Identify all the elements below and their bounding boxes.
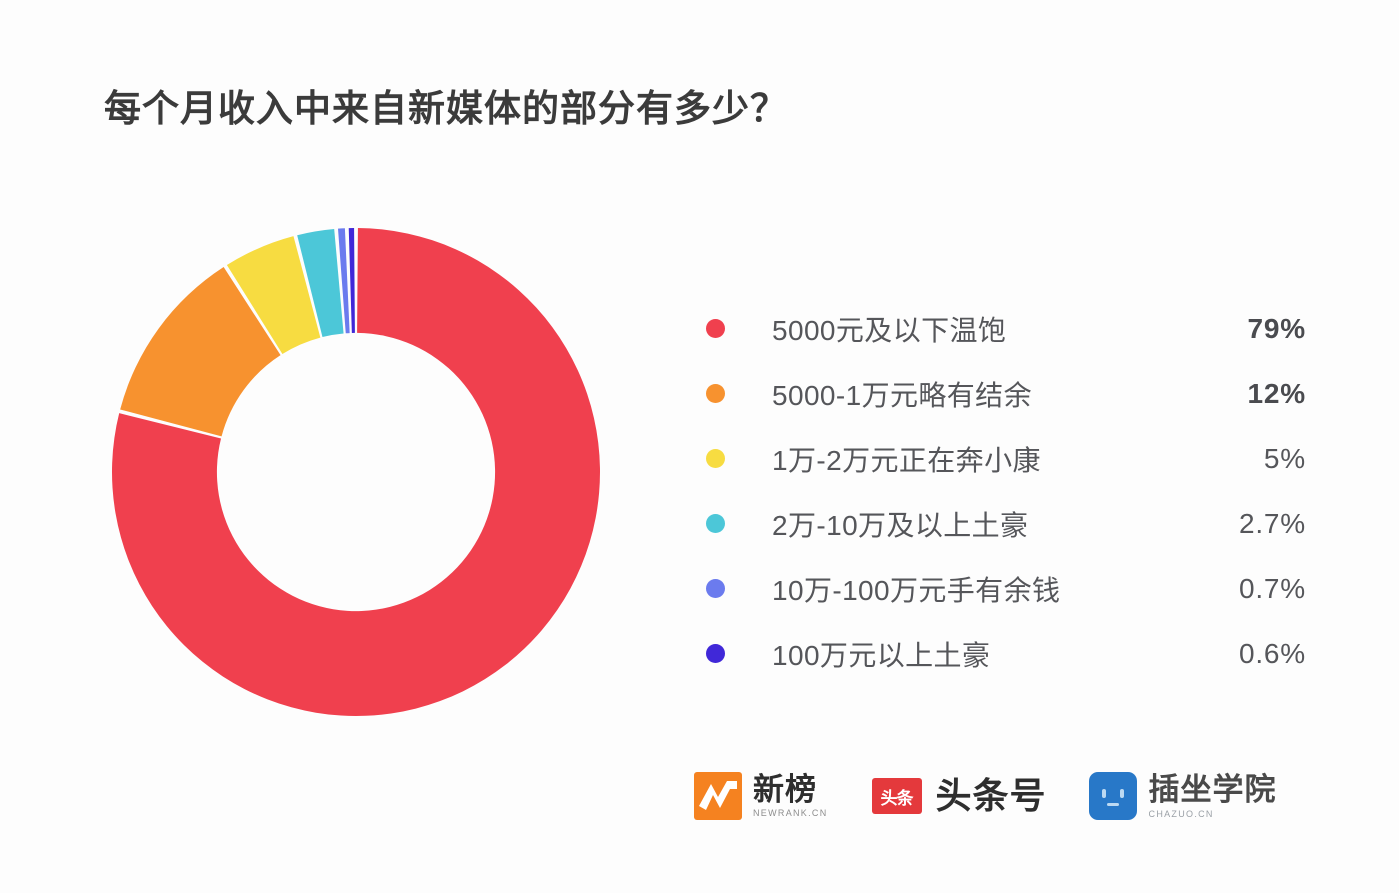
legend-value: 12% [1186,378,1306,410]
logo-toutiaohao: 头条 头条号 [872,778,1047,814]
legend-label: 5000-1万元略有结余 [772,374,1186,414]
chazuo-text: 插坐学院 CHAZUO.CN [1149,774,1277,819]
legend-dot-icon [706,449,725,468]
newrank-name-cn: 新榜 [753,774,828,805]
legend-row[interactable]: 1万-2万元正在奔小康5% [706,426,1306,491]
legend-row[interactable]: 5000元及以下温饱79% [706,296,1306,361]
legend-value: 0.6% [1186,638,1306,670]
legend-row[interactable]: 10万-100万元手有余钱0.7% [706,556,1306,621]
donut-slices [112,228,600,716]
legend-label: 100万元以上土豪 [772,634,1186,674]
chazuo-name-cn: 插坐学院 [1149,774,1277,805]
toutiaohao-name-cn: 头条号 [936,778,1047,814]
legend-value: 0.7% [1186,573,1306,605]
chazuo-name-en: CHAZUO.CN [1149,810,1277,819]
chazuo-face-icon [1089,772,1137,820]
legend-value: 5% [1186,443,1306,475]
newrank-name-en: NEWRANK.CN [753,809,828,818]
legend-value: 2.7% [1186,508,1306,540]
legend-row[interactable]: 100万元以上土豪0.6% [706,621,1306,686]
legend-label: 1万-2万元正在奔小康 [772,439,1186,479]
chart-legend: 5000元及以下温饱79%5000-1万元略有结余12%1万-2万元正在奔小康5… [706,296,1306,686]
legend-label: 10万-100万元手有余钱 [772,569,1186,609]
donut-slice[interactable] [349,228,355,333]
newrank-text: 新榜 NEWRANK.CN [753,774,828,818]
legend-dot-icon [706,514,725,533]
logo-chazuo: 插坐学院 CHAZUO.CN [1089,772,1277,820]
donut-chart-svg [108,224,604,720]
chazuo-mark-icon [1089,772,1137,820]
legend-label: 5000元及以下温饱 [772,309,1186,349]
newrank-mark-icon [694,772,742,820]
legend-row[interactable]: 5000-1万元略有结余12% [706,361,1306,426]
legend-row[interactable]: 2万-10万及以上土豪2.7% [706,491,1306,556]
legend-dot-icon [706,579,725,598]
legend-label: 2万-10万及以上土豪 [772,504,1186,544]
footer-logos: 新榜 NEWRANK.CN 头条 头条号 插坐学院 CHAZUO.CN [694,772,1277,820]
donut-chart [108,224,604,720]
page-title: 每个月收入中来自新媒体的部分有多少？ [104,78,788,132]
logo-newrank: 新榜 NEWRANK.CN [694,772,828,820]
toutiao-mark-icon: 头条 [872,778,922,814]
newrank-zigzag-icon [694,772,742,820]
legend-dot-icon [706,384,725,403]
legend-dot-icon [706,644,725,663]
legend-dot-icon [706,319,725,338]
legend-value: 79% [1186,313,1306,345]
